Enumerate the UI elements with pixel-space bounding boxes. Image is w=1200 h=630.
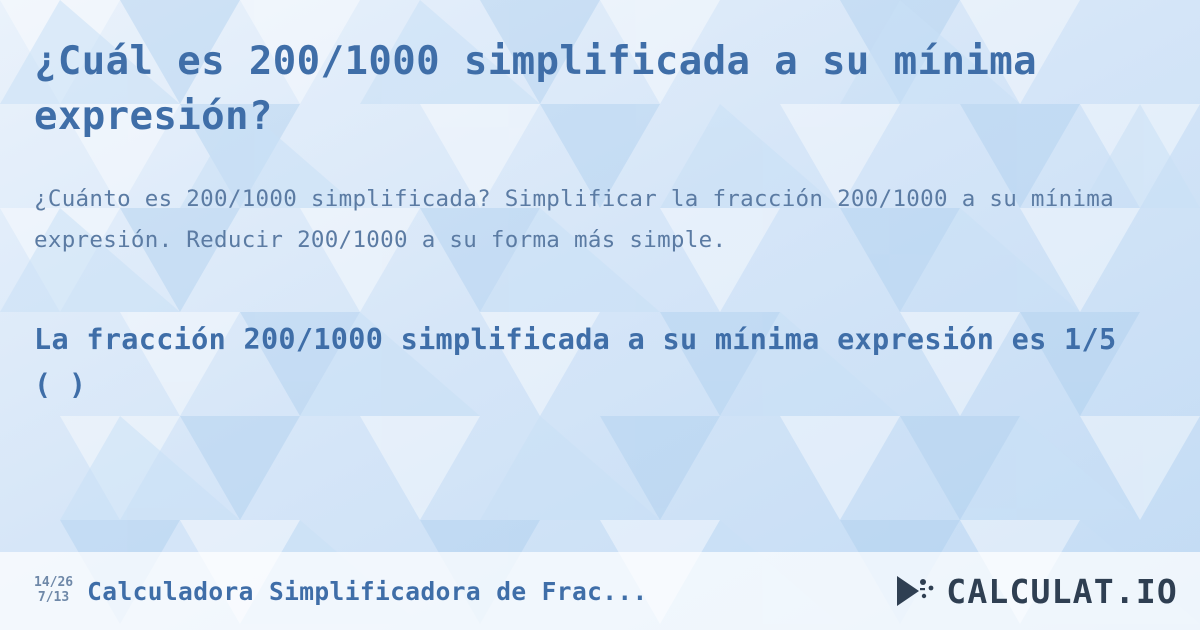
fraction-icon: 14/26 7/13 [34,576,73,606]
brand-logo[interactable]: CALCULAT.IO [893,572,1178,611]
page-content: ¿Cuál es 200/1000 simplificada a su míni… [0,0,1200,630]
page-description: ¿Cuánto es 200/1000 simplificada? Simpli… [34,179,1164,261]
brand-text: CALCULAT.IO [946,572,1178,611]
page-title: ¿Cuál es 200/1000 simplificada a su míni… [34,34,1124,145]
footer-site-title: Calculadora Simplificadora de Frac... [87,577,648,606]
calculator-mascot-icon [893,572,937,610]
footer-bar: 14/26 7/13 Calculadora Simplificadora de… [0,552,1200,630]
answer-text: La fracción 200/1000 simplificada a su m… [34,317,1149,408]
fraction-numerator: 14/26 [34,576,73,591]
fraction-denominator: 7/13 [38,591,69,606]
